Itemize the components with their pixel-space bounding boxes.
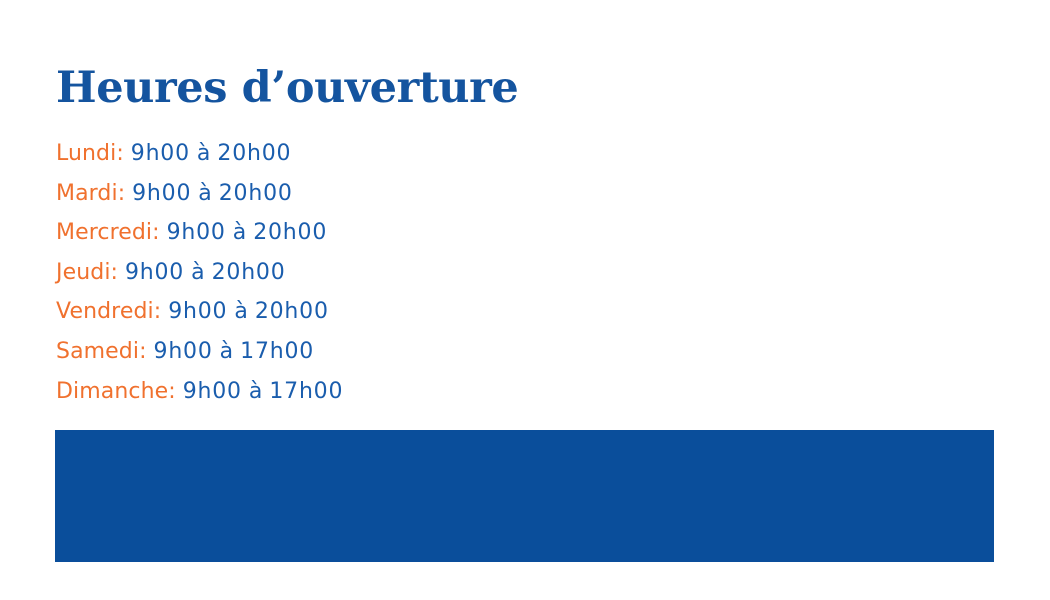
day-colon: : (168, 379, 182, 404)
opening-time: 9h00 (168, 299, 227, 324)
closing-time: 17h00 (269, 379, 343, 404)
opening-time: 9h00 (167, 220, 226, 245)
hours-row: Vendredi:9h00à20h00 (56, 291, 756, 331)
slide-canvas: Heures d’ouverture Lundi:9h00à20h00Mardi… (0, 0, 1050, 600)
day-label: Jeudi (56, 260, 111, 285)
page-title: Heures d’ouverture (56, 63, 518, 113)
closing-time: 17h00 (240, 339, 314, 364)
day-label: Lundi (56, 141, 116, 166)
day-colon: : (152, 220, 166, 245)
day-colon: : (139, 339, 153, 364)
day-colon: : (154, 299, 168, 324)
opening-time: 9h00 (154, 339, 213, 364)
opening-hours-list: Lundi:9h00à20h00Mardi:9h00à20h00Mercredi… (56, 133, 756, 410)
hours-row: Dimanche:9h00à17h00 (56, 371, 756, 411)
day-colon: : (111, 260, 125, 285)
closing-time: 20h00 (255, 299, 329, 324)
opening-time: 9h00 (183, 379, 242, 404)
time-range-separator: à (190, 141, 217, 166)
hours-row: Mardi:9h00à20h00 (56, 173, 756, 213)
closing-time: 20h00 (217, 141, 291, 166)
hours-row: Mercredi:9h00à20h00 (56, 212, 756, 252)
closing-time: 20h00 (212, 260, 286, 285)
time-range-separator: à (226, 220, 253, 245)
hours-row: Samedi:9h00à17h00 (56, 331, 756, 371)
time-range-separator: à (213, 339, 240, 364)
time-range-separator: à (242, 379, 269, 404)
hours-row: Jeudi:9h00à20h00 (56, 252, 756, 292)
time-range-separator: à (227, 299, 254, 324)
hours-row: Lundi:9h00à20h00 (56, 133, 756, 173)
day-label: Mardi (56, 181, 118, 206)
day-label: Mercredi (56, 220, 152, 245)
closing-time: 20h00 (219, 181, 293, 206)
opening-time: 9h00 (125, 260, 184, 285)
opening-time: 9h00 (132, 181, 191, 206)
day-label: Vendredi (56, 299, 154, 324)
opening-time: 9h00 (131, 141, 190, 166)
time-range-separator: à (191, 181, 218, 206)
day-label: Samedi (56, 339, 139, 364)
day-colon: : (118, 181, 132, 206)
time-range-separator: à (184, 260, 211, 285)
closing-time: 20h00 (253, 220, 327, 245)
day-label: Dimanche (56, 379, 168, 404)
bottom-blue-banner (55, 430, 994, 562)
day-colon: : (116, 141, 130, 166)
